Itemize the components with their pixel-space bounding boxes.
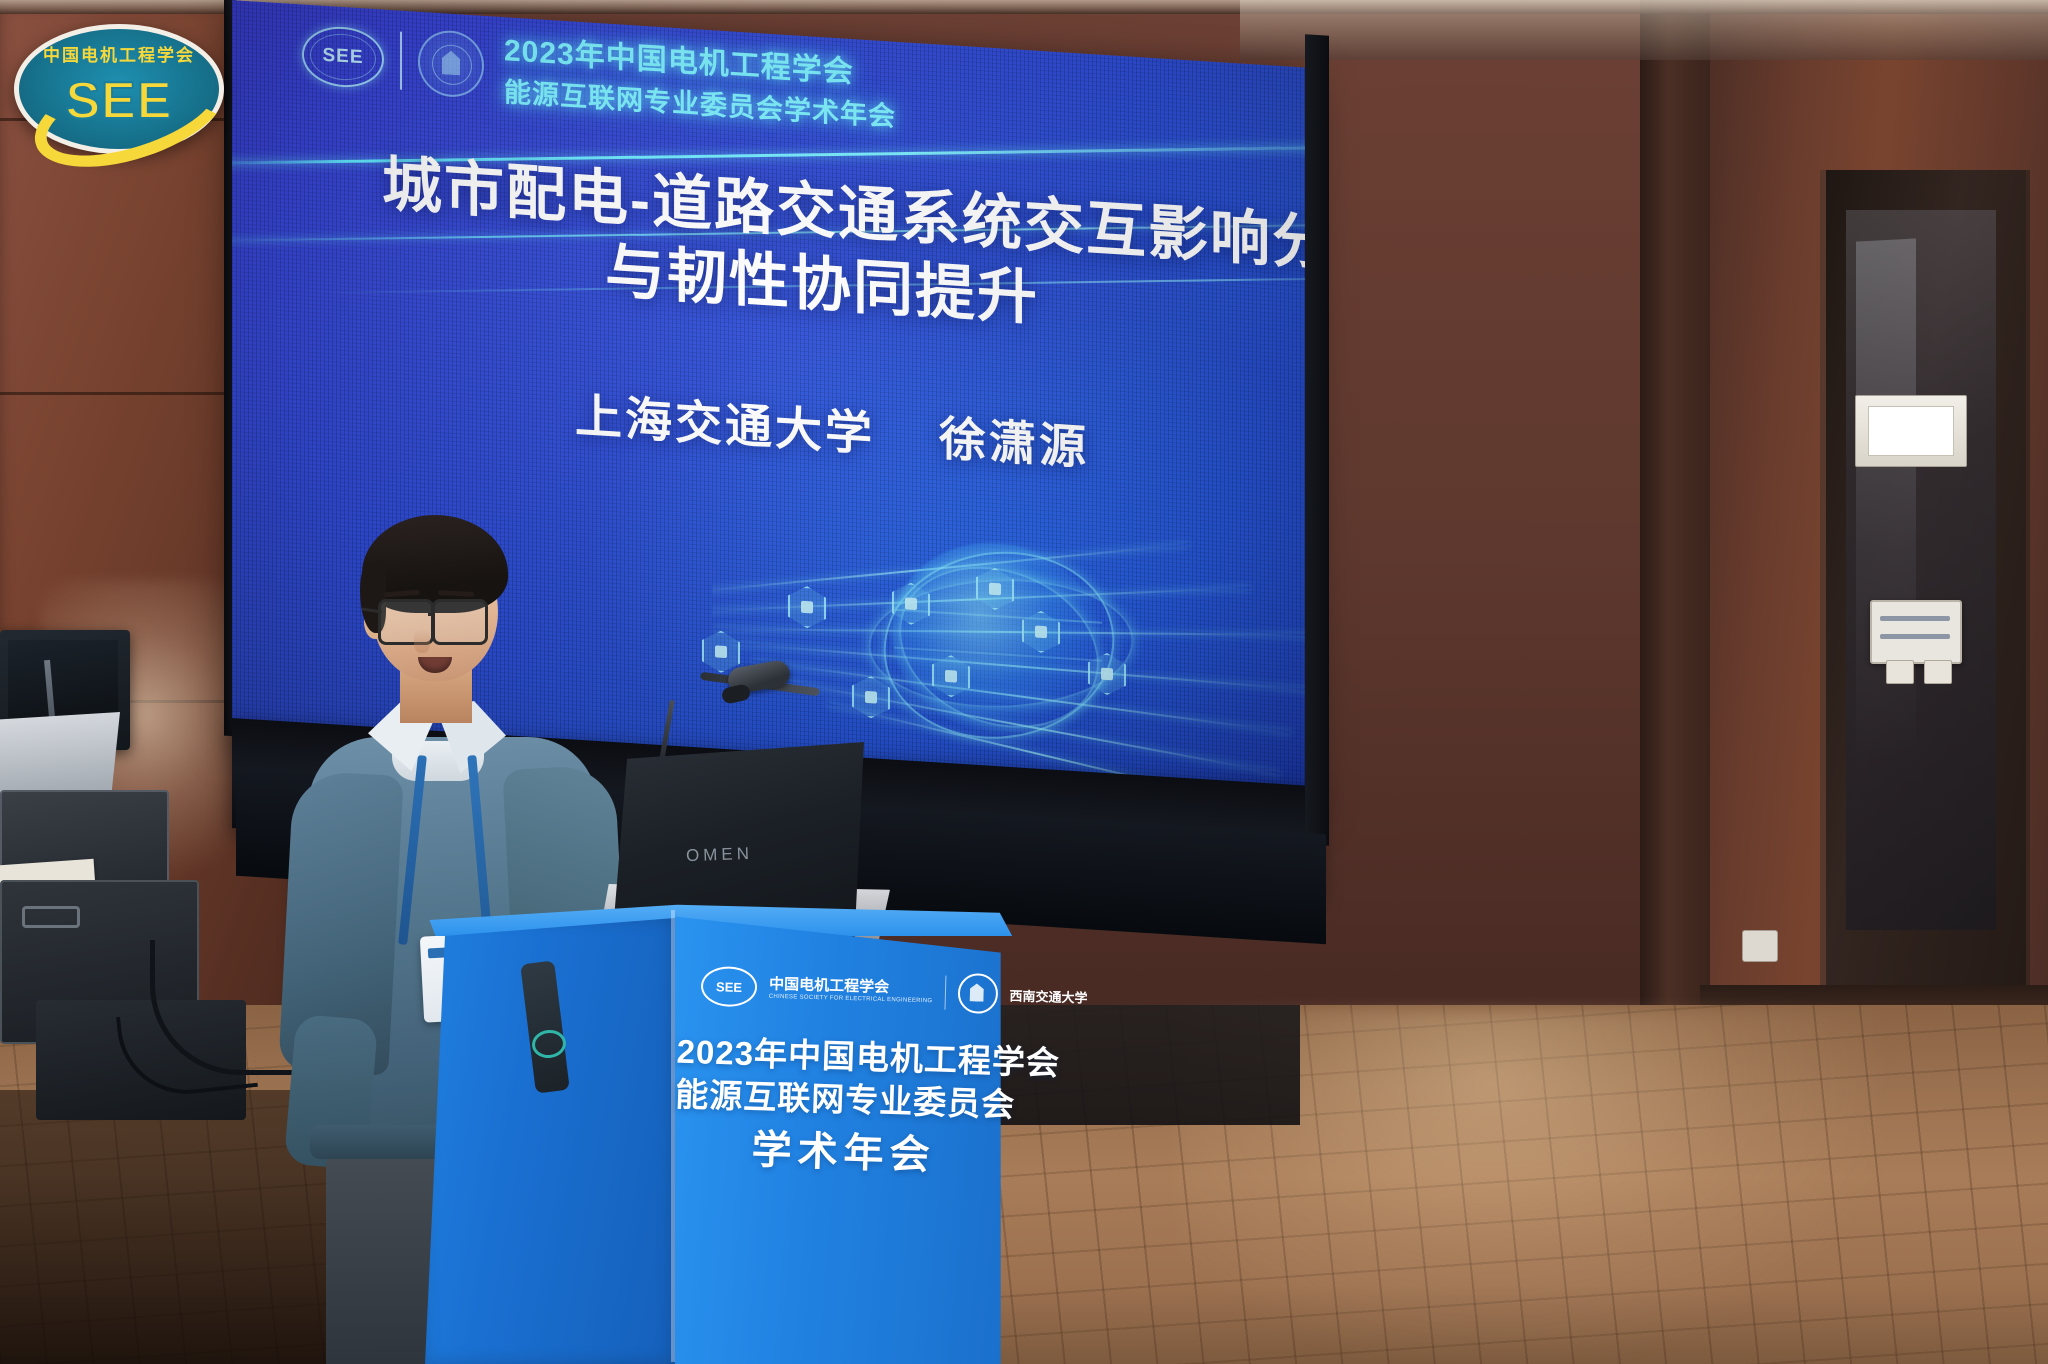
screen-right-bezel [1305, 34, 1329, 846]
podium-text-block: 2023年中国电机工程学会 能源互联网专业委员会 学术年会 [673, 1031, 1017, 1185]
wall-notice-paper [1868, 406, 1954, 456]
podium-line-3: 学术年会 [673, 1120, 1015, 1185]
presentation-photo-scene: 2023年中国电机工程学会 能源互联网专业委员会学术年会 城市配电-道路交通系统… [0, 0, 2048, 1364]
podium-university-crest-icon [957, 973, 998, 1014]
wall-outlet [1924, 660, 1952, 684]
ceiling-panel [1240, 0, 2048, 60]
speaker-nose [414, 629, 430, 653]
wall-pillar [1640, 0, 1710, 1010]
see-logo-letters: SEE [19, 75, 219, 127]
switch-row [1880, 634, 1950, 639]
glasses-lens-right [432, 599, 488, 645]
podium-logo-primary-text: 中国电机工程学会 CHINESE SOCIETY FOR ELECTRICAL … [769, 976, 933, 1004]
podium-logo-secondary-label: 西南交通大学 [1009, 985, 1088, 1006]
laptop-brand-label: OMEN [686, 844, 754, 866]
case-handle [22, 906, 80, 928]
switch-row [1880, 616, 1950, 621]
podium-see-logo-icon [701, 966, 758, 1008]
see-wall-logo: 中国电机工程学会 SEE [14, 24, 224, 154]
glasses-bridge [428, 613, 434, 616]
podium-logo-row: 中国电机工程学会 CHINESE SOCIETY FOR ELECTRICAL … [701, 966, 1002, 1014]
wall-socket [1742, 930, 1778, 962]
wall-switch-panel[interactable] [1870, 600, 1962, 664]
podium-logo-divider [944, 976, 946, 1010]
wall-outlet [1886, 660, 1914, 684]
